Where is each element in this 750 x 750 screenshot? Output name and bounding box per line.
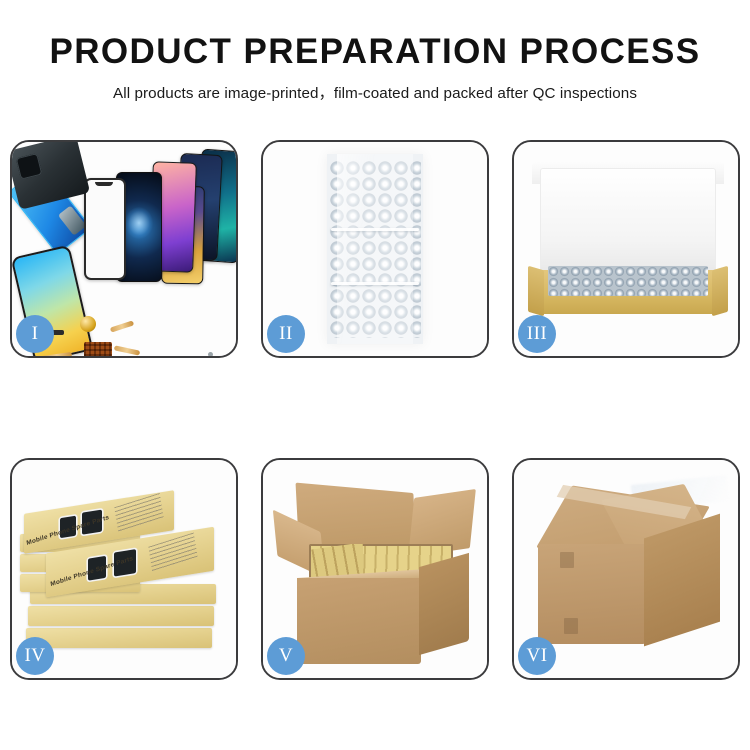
- tempered-glass-protector: [84, 178, 126, 280]
- phone-back-housing: [12, 142, 90, 210]
- step-panel-3: III: [512, 140, 740, 358]
- page-header: PRODUCT PREPARATION PROCESS All products…: [0, 0, 750, 103]
- carton-side-face: [419, 553, 469, 655]
- step-badge-3: III: [518, 315, 556, 353]
- wrap-seam-1: [331, 228, 419, 231]
- step-panel-2: II: [261, 140, 489, 358]
- step-badge-1: I: [16, 315, 54, 353]
- page-title: PRODUCT PREPARATION PROCESS: [0, 34, 750, 71]
- step-panel-4: Mobile Phone Spare Parts Mobile Phone Sp…: [10, 458, 238, 680]
- stacked-box-bottom-1: [26, 628, 212, 648]
- sealed-carton-side-face: [644, 514, 720, 647]
- carton-tab-upper: [560, 552, 574, 568]
- box-white-lid: [540, 168, 716, 272]
- page-subtitle: All products are image-printed，film-coat…: [0, 81, 750, 103]
- sealed-carton-front-face: [538, 544, 646, 644]
- wrap-seam-2: [331, 282, 419, 285]
- step-badge-6: VI: [518, 637, 556, 675]
- carton-tab-lower: [564, 618, 578, 634]
- step-panel-6: VI: [512, 458, 740, 680]
- process-step-grid: I II III: [10, 140, 740, 685]
- flex-cable-2: [114, 345, 140, 355]
- bubble-wrapped-contents: [548, 266, 708, 296]
- lid-spec-lines-b: [114, 493, 164, 532]
- bubble-wrap-sheet: [327, 154, 423, 344]
- step-panel-1: I: [10, 140, 238, 358]
- gold-coil-part: [80, 316, 96, 332]
- step-badge-4: IV: [16, 637, 54, 675]
- carton-front-face: [297, 578, 421, 664]
- screw-1: [208, 352, 213, 356]
- connector-grid-part: [84, 342, 112, 356]
- flex-cable-1: [110, 320, 134, 332]
- lid-spec-lines-a: [148, 532, 198, 571]
- yellow-box-stack: Mobile Phone Spare Parts Mobile Phone Sp…: [20, 478, 232, 664]
- step-panel-5: V: [261, 458, 489, 680]
- step-badge-5: V: [267, 637, 305, 675]
- step-badge-2: II: [267, 315, 305, 353]
- stacked-box-bottom-2: [28, 606, 214, 626]
